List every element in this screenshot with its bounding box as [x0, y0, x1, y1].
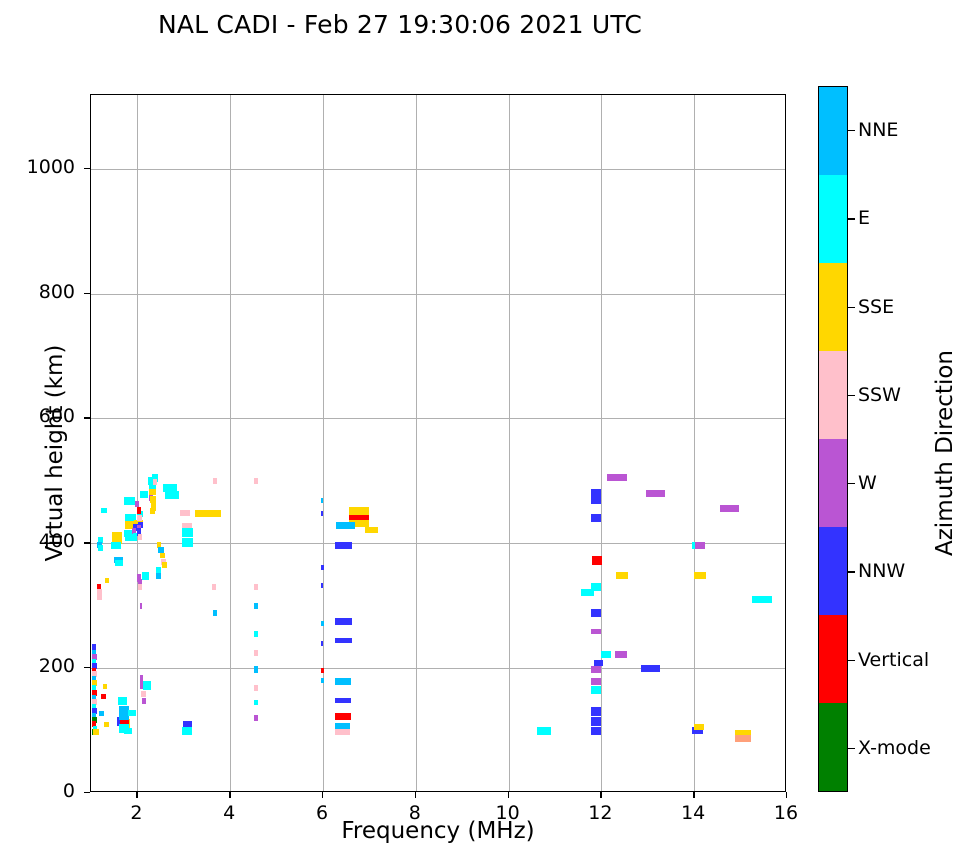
data-mark	[607, 474, 627, 481]
data-mark	[335, 729, 350, 735]
data-mark	[101, 694, 106, 699]
y-axis-tick	[84, 792, 90, 793]
data-mark	[153, 479, 158, 485]
colorbar-tick-label: NNE	[858, 119, 898, 141]
data-mark	[254, 603, 258, 609]
y-axis-tick	[84, 293, 90, 294]
colorbar-segment-w[interactable]	[819, 439, 847, 527]
data-mark	[591, 727, 601, 735]
data-mark	[143, 681, 151, 690]
colorbar-tick-label: W	[858, 472, 877, 494]
y-axis-label: Virtual height (km)	[42, 253, 68, 653]
x-axis-tick	[786, 792, 787, 798]
data-mark	[138, 584, 142, 590]
y-axis-tick	[84, 542, 90, 543]
data-mark	[735, 735, 751, 742]
colorbar-tick-label: Vertical	[858, 649, 929, 671]
data-mark	[336, 522, 355, 529]
colorbar-tick	[848, 748, 855, 749]
colorbar-segment-sse[interactable]	[819, 263, 847, 351]
y-axis-tick-label: 1000	[5, 156, 75, 178]
data-mark	[141, 691, 146, 697]
data-mark	[162, 562, 168, 568]
data-mark	[694, 572, 706, 579]
data-mark	[137, 515, 142, 521]
data-mark	[591, 678, 601, 685]
x-axis-tick	[600, 792, 601, 798]
colorbar-tick-label: E	[858, 207, 870, 229]
data-mark	[99, 711, 104, 716]
colorbar-tick	[848, 395, 855, 396]
data-mark	[182, 538, 194, 547]
data-mark	[142, 698, 146, 704]
data-mark	[335, 713, 351, 720]
data-mark	[111, 542, 121, 549]
data-mark	[321, 565, 324, 570]
data-mark	[150, 508, 155, 514]
gridline-horizontal	[91, 668, 785, 669]
x-axis-label: Frequency (MHz)	[90, 818, 786, 844]
data-mark	[321, 498, 324, 503]
data-mark	[591, 514, 601, 522]
data-mark	[254, 631, 258, 637]
colorbar-tick	[848, 218, 855, 219]
gridline-vertical	[601, 95, 602, 791]
colorbar-tick	[848, 571, 855, 572]
colorbar-tick-label: SSW	[858, 384, 901, 406]
data-mark	[592, 556, 602, 565]
data-mark	[115, 560, 123, 566]
data-mark	[254, 685, 258, 691]
gridline-horizontal	[91, 543, 785, 544]
data-mark	[195, 510, 221, 517]
gridline-vertical	[416, 95, 417, 791]
gridline-vertical	[694, 95, 695, 791]
data-mark	[93, 729, 99, 735]
gridline-vertical	[509, 95, 510, 791]
data-mark	[165, 491, 179, 499]
data-mark	[156, 573, 161, 579]
gridline-vertical	[323, 95, 324, 791]
gridline-horizontal	[91, 169, 785, 170]
data-mark	[646, 490, 666, 497]
colorbar-segment-nnw[interactable]	[819, 527, 847, 615]
data-mark	[254, 700, 258, 705]
data-mark	[124, 728, 132, 734]
data-mark	[98, 545, 103, 551]
colorbar-tick-label: NNW	[858, 560, 905, 582]
colorbar-segment-x-mode[interactable]	[819, 703, 847, 791]
colorbar-segment-vertical[interactable]	[819, 615, 847, 703]
data-mark	[321, 678, 324, 683]
y-axis-tick-label: 0	[5, 780, 75, 802]
data-mark	[591, 629, 601, 634]
colorbar-tick-label: SSE	[858, 296, 894, 318]
data-mark	[591, 496, 601, 504]
data-mark	[254, 650, 258, 656]
data-mark	[720, 505, 740, 512]
y-axis-tick	[84, 667, 90, 668]
data-mark	[694, 724, 704, 730]
data-mark	[321, 621, 324, 626]
data-mark	[365, 527, 378, 533]
data-mark	[254, 715, 258, 721]
data-mark	[349, 507, 370, 515]
colorbar-tick	[848, 483, 855, 484]
data-mark	[142, 572, 149, 580]
data-mark	[156, 567, 161, 573]
gridline-horizontal	[91, 418, 785, 419]
data-mark	[321, 583, 324, 588]
data-mark	[537, 727, 551, 735]
data-mark	[128, 710, 136, 716]
data-mark	[591, 666, 601, 673]
data-mark	[695, 542, 705, 549]
data-mark	[124, 497, 136, 505]
data-mark	[118, 697, 127, 705]
data-mark	[138, 534, 142, 540]
data-mark	[182, 727, 192, 735]
data-mark	[335, 618, 353, 625]
data-mark	[616, 572, 628, 579]
data-mark	[160, 553, 166, 558]
data-mark	[254, 666, 258, 673]
data-mark	[135, 501, 139, 507]
x-axis-tick	[322, 792, 323, 798]
data-mark	[581, 589, 595, 596]
data-mark	[335, 678, 351, 685]
colorbar-segment-ssw[interactable]	[819, 351, 847, 439]
data-mark	[591, 686, 601, 694]
data-mark	[140, 491, 148, 498]
data-mark	[213, 610, 217, 616]
x-axis-tick	[415, 792, 416, 798]
data-mark	[182, 528, 194, 537]
gridline-vertical	[137, 95, 138, 791]
colorbar-label: Azimuth Direction	[932, 253, 958, 653]
data-mark	[101, 508, 107, 513]
y-axis-tick	[84, 168, 90, 169]
data-mark	[105, 578, 110, 583]
figure-canvas: NAL CADI - Feb 27 19:30:06 2021 UTC 2468…	[0, 0, 958, 857]
x-axis-tick	[229, 792, 230, 798]
data-mark	[591, 609, 601, 617]
data-mark	[158, 547, 164, 553]
data-mark	[213, 478, 217, 484]
data-mark	[254, 584, 258, 590]
colorbar-tick	[848, 307, 855, 308]
data-mark	[641, 665, 661, 672]
y-axis-tick	[84, 417, 90, 418]
x-axis-tick	[693, 792, 694, 798]
colorbar-tick	[848, 130, 855, 131]
data-mark	[752, 596, 772, 603]
gridline-horizontal	[91, 294, 785, 295]
data-mark	[140, 603, 143, 609]
data-mark	[149, 489, 156, 495]
data-mark	[335, 698, 351, 703]
gridline-vertical	[230, 95, 231, 791]
data-mark	[180, 510, 190, 516]
data-mark	[591, 707, 601, 716]
y-axis-tick-label: 200	[5, 655, 75, 677]
x-axis-tick	[508, 792, 509, 798]
data-mark	[601, 651, 611, 658]
colorbar-tick	[848, 660, 855, 661]
data-mark	[321, 511, 324, 516]
data-mark	[321, 668, 324, 673]
plot-area[interactable]	[90, 94, 786, 792]
data-mark	[591, 717, 601, 726]
data-mark	[104, 722, 109, 727]
data-mark	[97, 594, 102, 600]
x-axis-tick	[136, 792, 137, 798]
data-mark	[103, 684, 108, 689]
data-mark	[335, 638, 353, 643]
colorbar-segment-e[interactable]	[819, 175, 847, 263]
chart-title: NAL CADI - Feb 27 19:30:06 2021 UTC	[0, 10, 800, 39]
data-mark	[321, 641, 324, 646]
data-mark	[254, 478, 258, 484]
data-mark	[137, 507, 142, 514]
data-mark	[615, 651, 627, 658]
colorbar[interactable]	[818, 86, 848, 792]
colorbar-segment-nne[interactable]	[819, 87, 847, 175]
colorbar-tick-label: X-mode	[858, 737, 931, 759]
data-mark	[335, 542, 353, 549]
data-mark	[212, 584, 216, 590]
data-mark	[183, 721, 192, 727]
